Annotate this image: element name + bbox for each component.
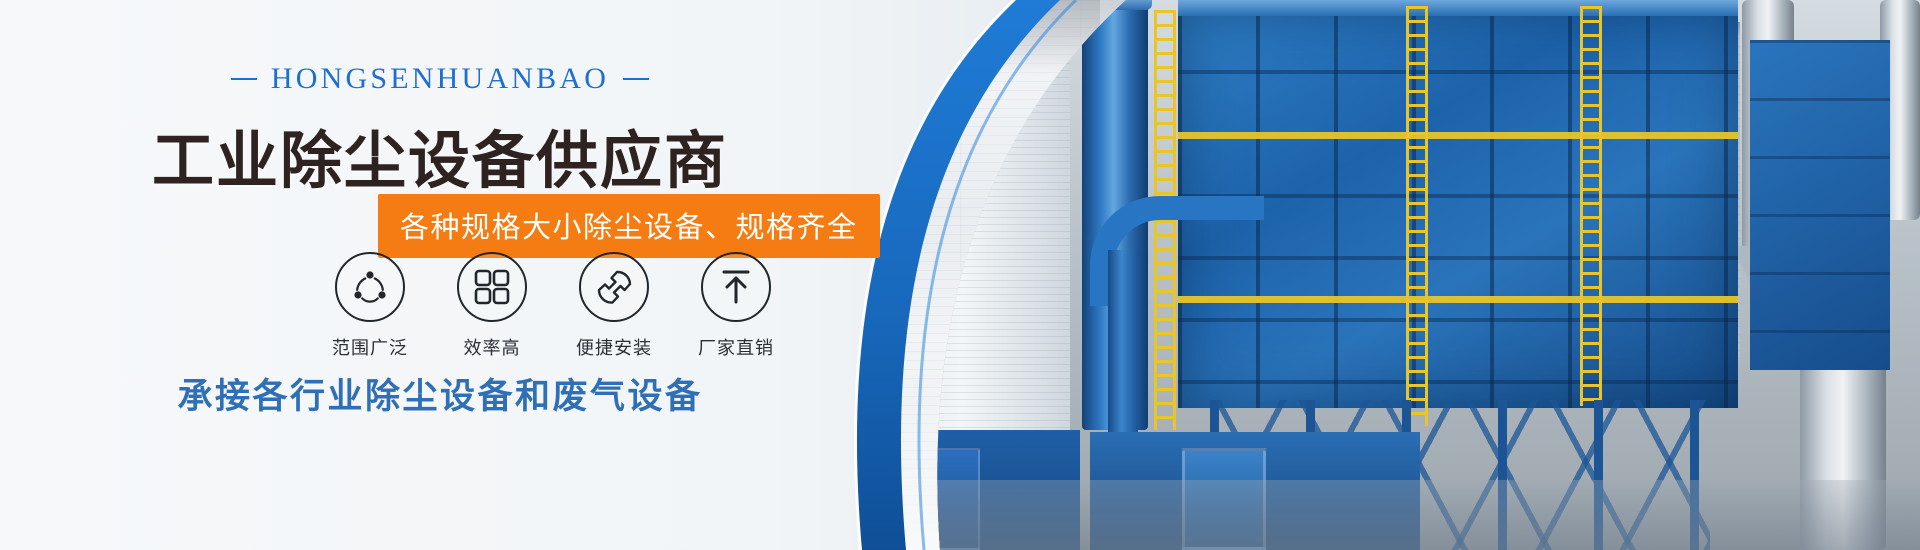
yellow-ladder-middle bbox=[1406, 6, 1428, 426]
yellow-railing-upper bbox=[1178, 132, 1738, 139]
yellow-ladder-right bbox=[1580, 6, 1602, 406]
subheading-orange-bar: 各种规格大小除尘设备、规格齐全 bbox=[378, 194, 880, 258]
network-nodes-icon bbox=[350, 267, 390, 307]
grid-four-squares-icon bbox=[474, 269, 510, 305]
plant-ground bbox=[930, 480, 1920, 550]
baghouse-top-cap bbox=[1178, 0, 1738, 16]
feature-item-efficiency[interactable]: 效率高 bbox=[440, 252, 544, 360]
brand-eyebrow: HONGSENHUANBAO bbox=[0, 62, 880, 96]
feature-label: 效率高 bbox=[440, 334, 544, 360]
tagline: 承接各行业除尘设备和废气设备 bbox=[0, 368, 880, 419]
blue-downpipe bbox=[1108, 250, 1138, 440]
feature-item-scope[interactable]: 范围广泛 bbox=[318, 252, 422, 360]
promo-banner: HONGSENHUANBAO 工业除尘设备供应商 各种规格大小除尘设备、规格齐全 bbox=[0, 0, 1920, 550]
feature-label: 厂家直销 bbox=[684, 334, 788, 360]
banner-content: HONGSENHUANBAO 工业除尘设备供应商 各种规格大小除尘设备、规格齐全 bbox=[0, 0, 900, 550]
eyebrow-text: HONGSENHUANBAO bbox=[271, 62, 609, 95]
feature-list: 范围广泛 效率高 bbox=[318, 252, 788, 360]
blue-baghouse-secondary bbox=[1750, 40, 1890, 370]
eyebrow-dash-right bbox=[623, 78, 649, 80]
feature-icon-ring bbox=[335, 252, 405, 322]
wrench-icon bbox=[594, 267, 634, 307]
eyebrow-dash-left bbox=[231, 78, 257, 80]
feature-label: 范围广泛 bbox=[318, 334, 422, 360]
feature-icon-ring bbox=[457, 252, 527, 322]
upload-arrow-icon bbox=[718, 268, 754, 306]
subheading-text: 各种规格大小除尘设备、规格齐全 bbox=[400, 210, 858, 244]
headline: 工业除尘设备供应商 bbox=[0, 110, 880, 200]
feature-item-direct-sales[interactable]: 厂家直销 bbox=[684, 252, 788, 360]
feature-icon-ring bbox=[701, 252, 771, 322]
feature-icon-ring bbox=[579, 252, 649, 322]
feature-item-installation[interactable]: 便捷安装 bbox=[562, 252, 666, 360]
feature-label: 便捷安装 bbox=[562, 334, 666, 360]
